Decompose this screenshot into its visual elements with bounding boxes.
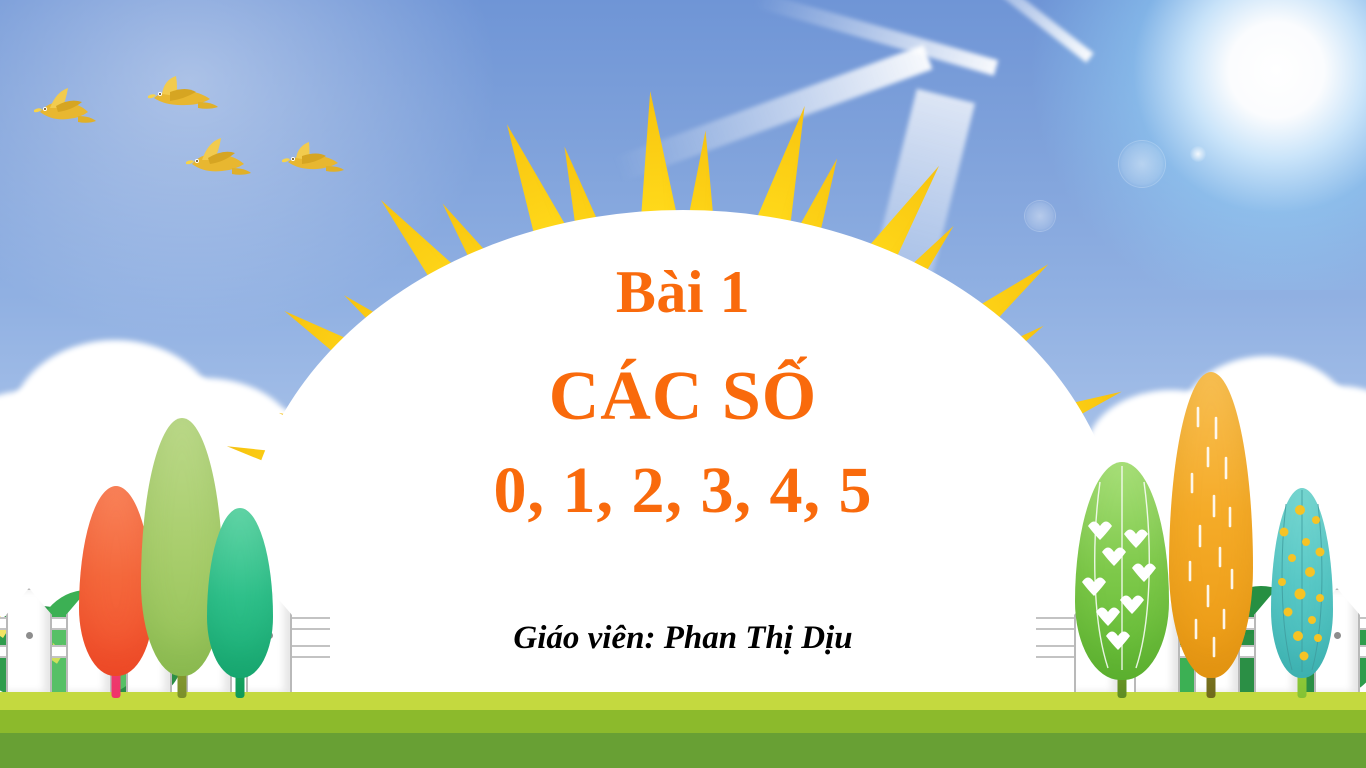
- teacher-name: Giáo viên: Phan Thị Dịu: [0, 620, 1366, 657]
- teal-dot-leaf: [1270, 498, 1334, 698]
- flying-bird-icon: [276, 138, 346, 182]
- title-block: Bài 1 CÁC SỐ 0, 1, 2, 3, 4, 5: [0, 262, 1366, 524]
- slide-canvas: Bài 1 CÁC SỐ 0, 1, 2, 3, 4, 5 Giáo viên:…: [0, 0, 1366, 768]
- lens-flare-circle: [1118, 140, 1166, 188]
- lens-flare-circle: [1024, 200, 1056, 232]
- teal-leaf-tree: [206, 520, 274, 698]
- title-line-2: 0, 1, 2, 3, 4, 5: [0, 458, 1366, 524]
- lesson-label: Bài 1: [0, 262, 1366, 322]
- flying-bird-icon: [28, 82, 100, 134]
- grass-band-dark: [0, 733, 1366, 768]
- lens-flare-circle: [1190, 146, 1206, 162]
- flying-bird-icon: [178, 132, 254, 184]
- flying-bird-icon: [140, 72, 220, 122]
- grass-band-mid: [0, 710, 1366, 733]
- title-line-1: CÁC SỐ: [0, 362, 1366, 432]
